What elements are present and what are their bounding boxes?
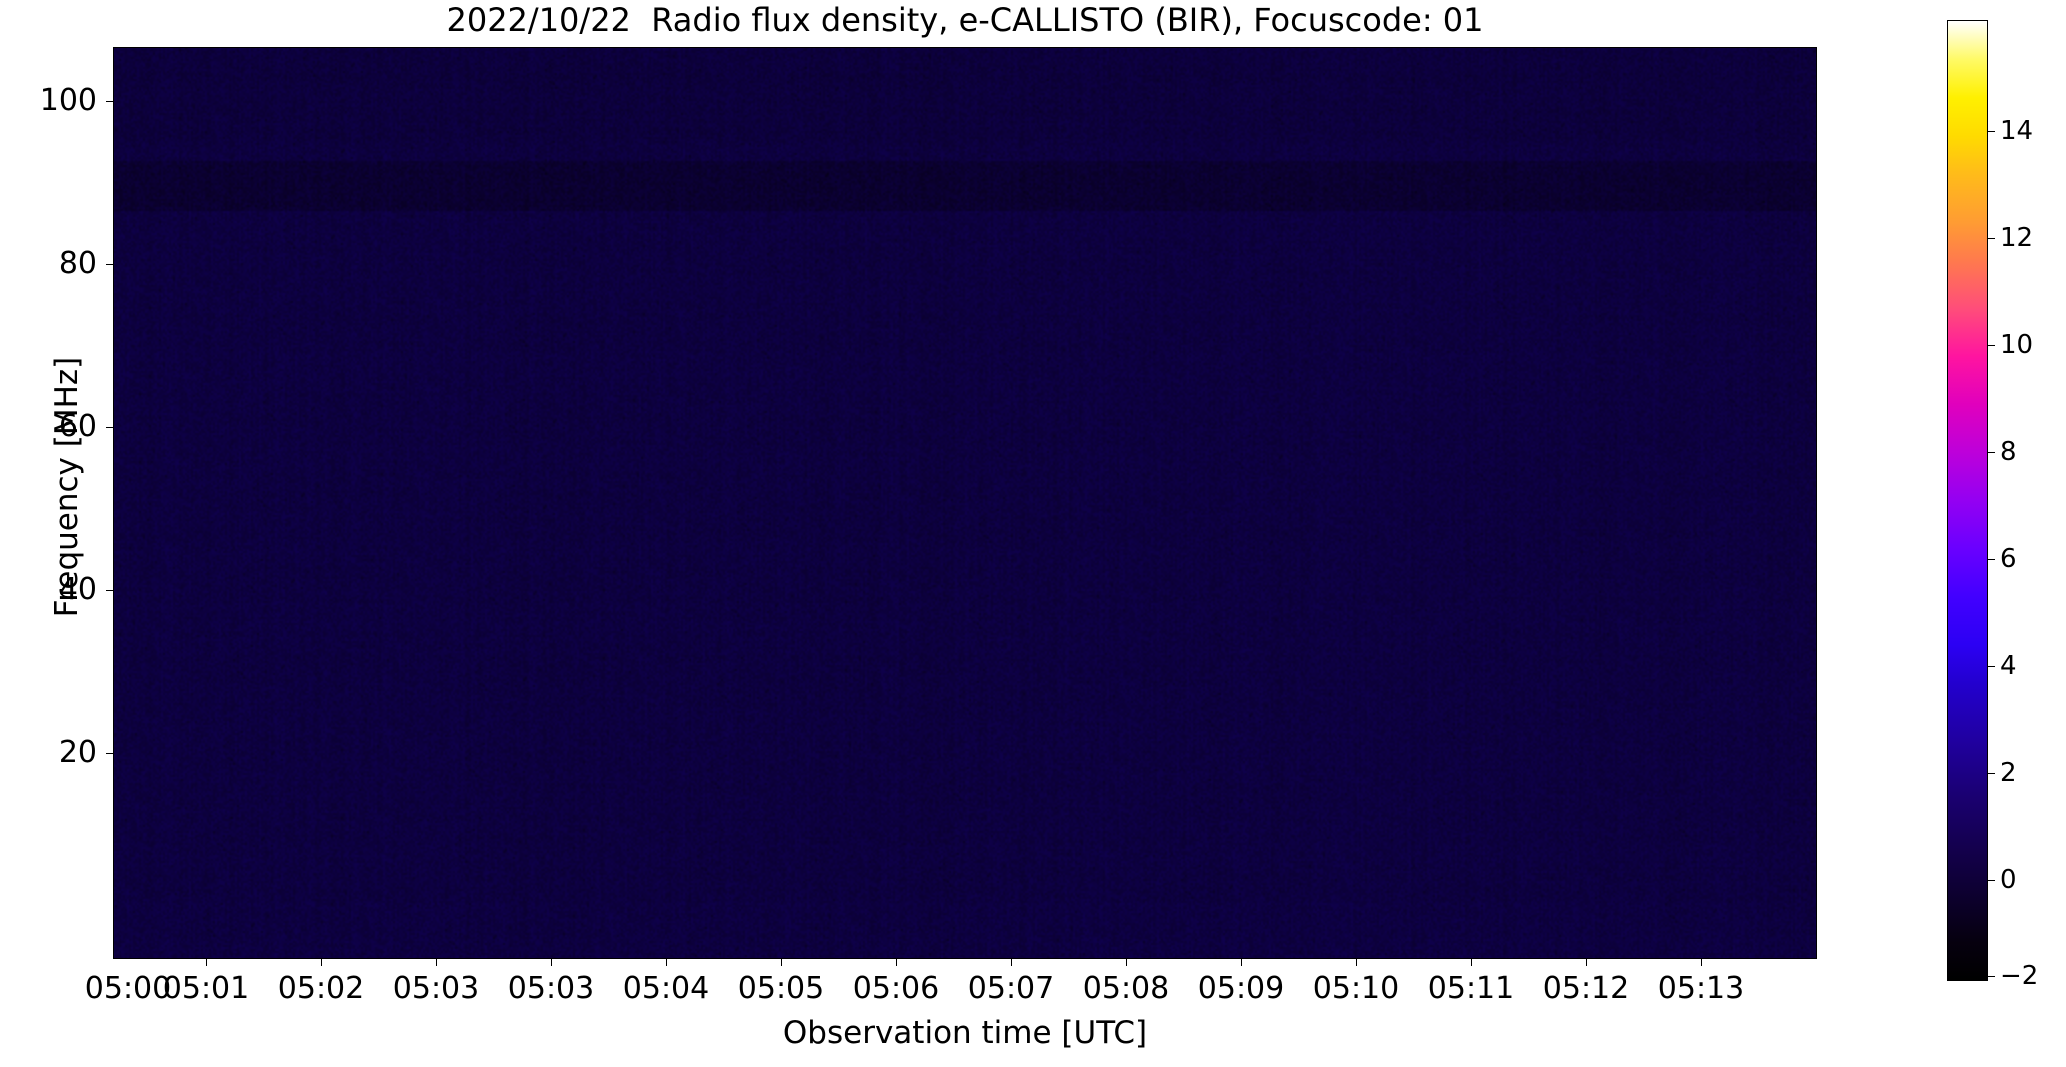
x-tick-mark [1126, 959, 1127, 966]
x-tick-mark [551, 959, 552, 966]
x-tick-mark [1356, 959, 1357, 966]
y-tick-mark [106, 590, 113, 591]
x-tick-mark [1011, 959, 1012, 966]
colorbar-tick-label-14: 14 [2000, 118, 2033, 144]
colorbar-tick-mark [1988, 559, 1995, 560]
x-tick-mark [206, 959, 207, 966]
figure-canvas: 2022/10/22 Radio flux density, e-CALLIST… [0, 0, 2066, 1067]
x-tick-mark [436, 959, 437, 966]
x-tick-mark [666, 959, 667, 966]
x-tick-mark [1586, 959, 1587, 966]
spectrogram-axes [113, 47, 1817, 959]
y-tick-mark [106, 427, 113, 428]
colorbar-tick-label-4: 4 [2000, 653, 2017, 679]
x-axis-label: Observation time [UTC] [113, 1015, 1817, 1051]
y-tick-mark [106, 264, 113, 265]
colorbar [1947, 20, 1988, 981]
x-tick-mark [1701, 959, 1702, 966]
axis-spine-bottom [113, 958, 1817, 959]
x-tick-mark [781, 959, 782, 966]
colorbar-tick-mark [1988, 345, 1995, 346]
colorbar-tick-label-12: 12 [2000, 225, 2033, 251]
spectrogram-image [113, 47, 1817, 959]
colorbar-tick-mark [1988, 880, 1995, 881]
axis-spine-right [1816, 47, 1817, 959]
x-tick-mark [321, 959, 322, 966]
colorbar-tick-label-2: 2 [2000, 760, 2017, 786]
x-tick-mark [1471, 959, 1472, 966]
x-tick-label-14: 05:13 [1621, 972, 1781, 1006]
colorbar-tick-mark [1988, 666, 1995, 667]
y-tick-label-100: 100 [0, 86, 97, 116]
x-tick-mark [896, 959, 897, 966]
page-title: 2022/10/22 Radio flux density, e-CALLIST… [113, 2, 1817, 38]
colorbar-tick-label-m2: −2 [2000, 963, 2038, 989]
colorbar-tick-label-6: 6 [2000, 546, 2017, 572]
y-tick-mark [106, 753, 113, 754]
colorbar-tick-mark [1988, 773, 1995, 774]
y-tick-mark [106, 101, 113, 102]
colorbar-tick-label-8: 8 [2000, 439, 2017, 465]
axis-spine-top [113, 47, 1817, 48]
colorbar-tick-label-10: 10 [2000, 332, 2033, 358]
y-axis-label: Frequency [MHz] [50, 187, 84, 787]
axis-spine-left [113, 47, 114, 959]
x-tick-mark [1241, 959, 1242, 966]
colorbar-tick-mark [1988, 238, 1995, 239]
colorbar-tick-mark [1988, 976, 1995, 977]
colorbar-tick-mark [1988, 131, 1995, 132]
colorbar-tick-label-0: 0 [2000, 867, 2017, 893]
colorbar-tick-mark [1988, 452, 1995, 453]
